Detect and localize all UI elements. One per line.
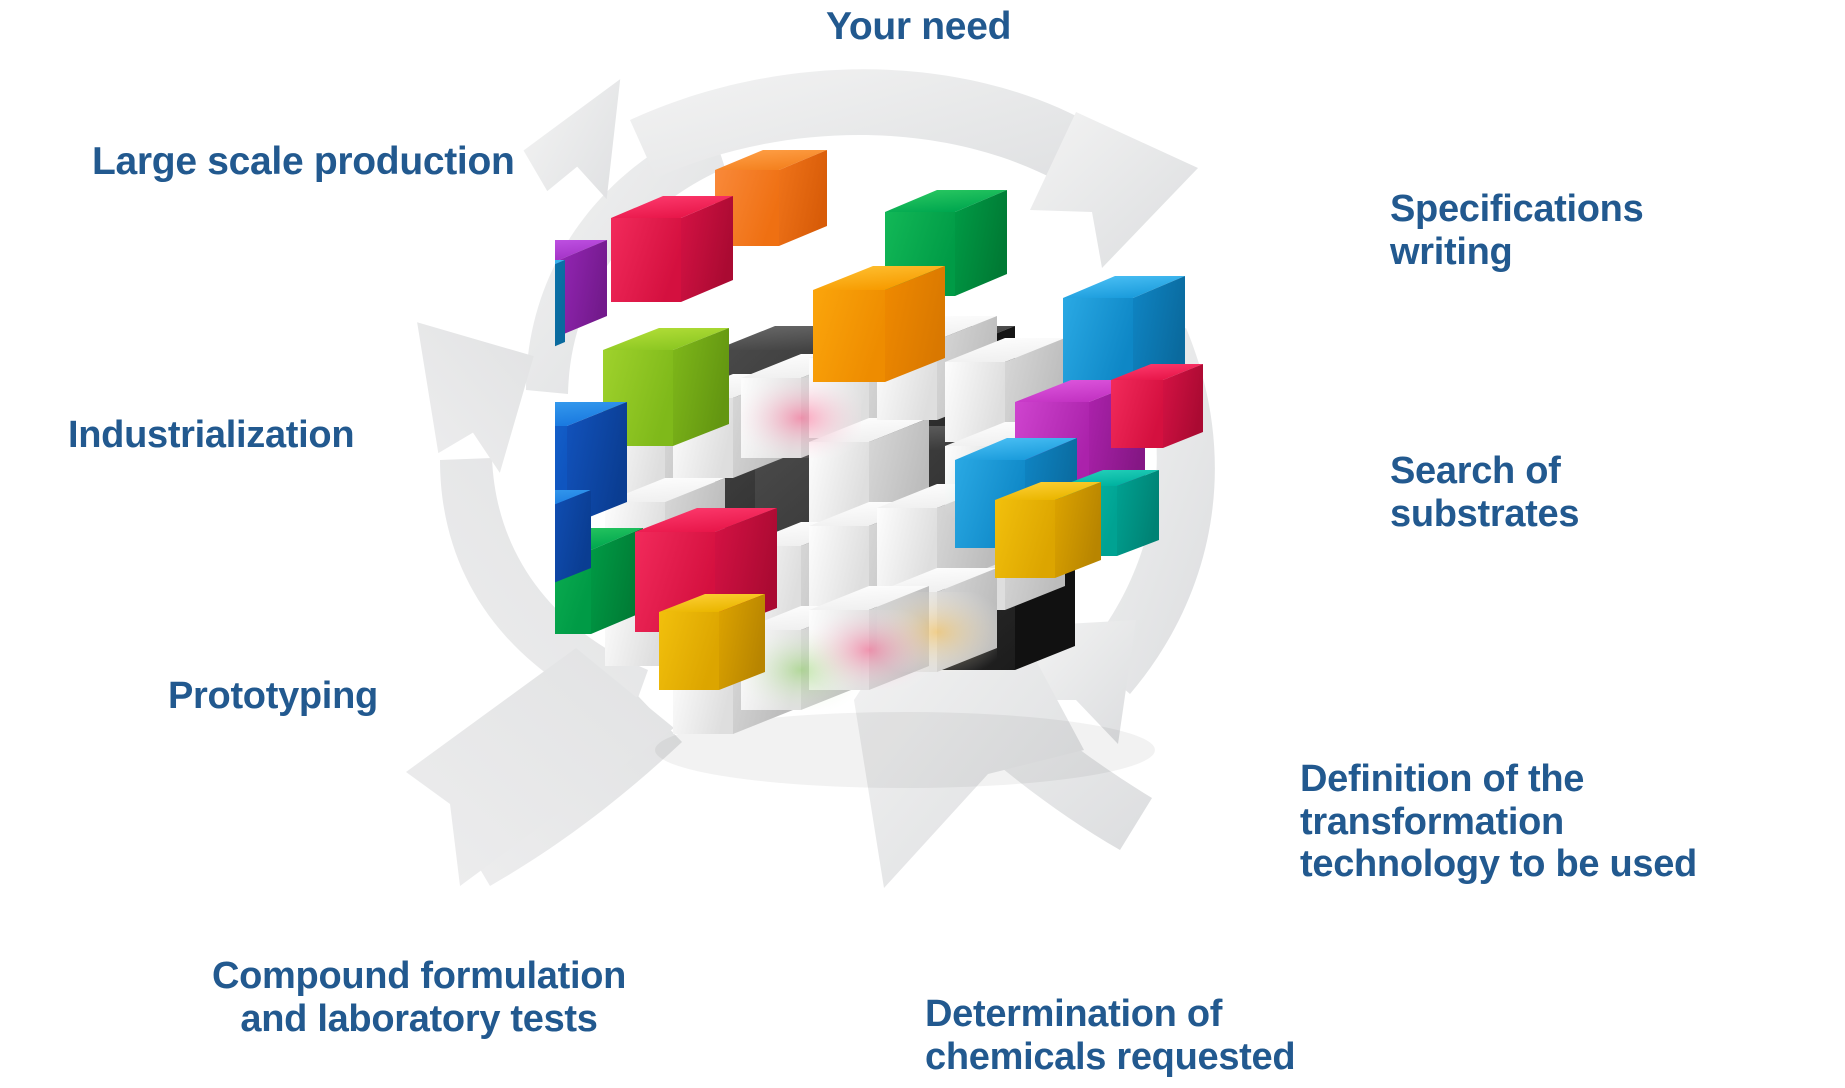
cube-cluster-svg bbox=[555, 150, 1255, 840]
step-label-definition: Definition of the transformation technol… bbox=[1300, 758, 1845, 886]
step-label-industrialization: Industrialization bbox=[68, 414, 354, 457]
cube-crimson-top bbox=[611, 196, 733, 302]
step-label-your-need: Your need bbox=[826, 5, 1011, 49]
cube-azure-left bbox=[555, 260, 565, 364]
cube-crimson-right bbox=[1111, 364, 1203, 448]
cube-gold-bottom bbox=[659, 594, 765, 690]
step-label-compound: Compound formulation and laboratory test… bbox=[212, 955, 626, 1040]
cube-gold-right bbox=[995, 482, 1101, 578]
step-label-determination: Determination of chemicals requested bbox=[925, 993, 1295, 1078]
infographic-canvas: Your need Specifications writing Search … bbox=[0, 0, 1845, 1088]
step-label-search: Search of substrates bbox=[1390, 450, 1579, 535]
cube-cluster-graphic bbox=[555, 150, 1255, 840]
cube-amber-centre bbox=[813, 266, 945, 382]
step-label-specifications: Specifications writing bbox=[1390, 188, 1643, 273]
step-label-prototyping: Prototyping bbox=[168, 675, 378, 718]
step-label-large-scale: Large scale production bbox=[92, 140, 515, 184]
